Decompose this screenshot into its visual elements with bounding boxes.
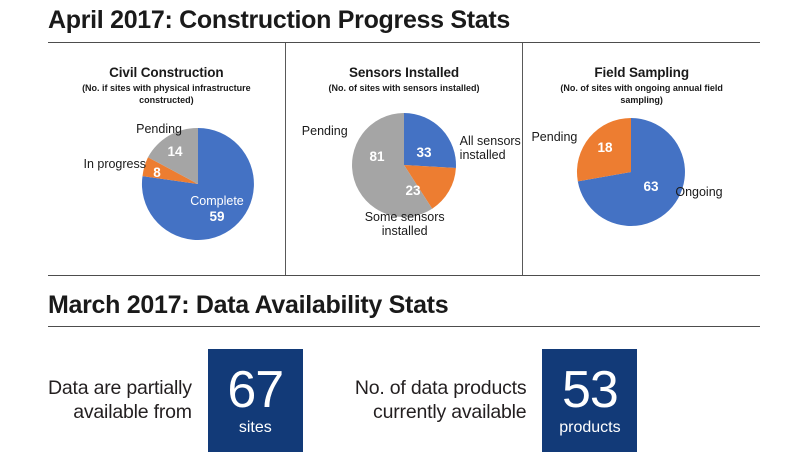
- stat-sites-number: 67: [227, 367, 283, 415]
- stat-products-box: 53 products: [542, 349, 637, 452]
- divider-under-panels: [48, 275, 760, 276]
- pie-callout-all-sensors-line1: All sensors: [460, 134, 521, 149]
- stat-sites-text: Data are partially available from: [48, 377, 192, 425]
- pie-callout-some-sensors: Some sensors installed: [343, 210, 467, 239]
- stat-sites: Data are partially available from 67 sit…: [48, 349, 303, 452]
- panel-head-field: Field Sampling (No. of sites with ongoin…: [523, 43, 760, 106]
- pie-callout-pending-sensors: Pending: [282, 124, 348, 139]
- pie-chart-field: 18 63: [523, 106, 761, 256]
- panel-subtitle-civil: (No. if sites with physical infrastructu…: [48, 83, 285, 106]
- pie-callout-some-sensors-line1: Some sensors: [343, 210, 467, 225]
- pie-panels-row: Civil Construction (No. if sites with ph…: [48, 43, 760, 275]
- stat-products-text-line2: currently available: [355, 401, 527, 425]
- pie-callout-pending-field: Pending: [515, 130, 577, 145]
- pie-callout-in-progress-civil: In progress: [50, 157, 146, 172]
- pie-value-all-sensors: 33: [416, 145, 432, 160]
- panel-title-field: Field Sampling: [523, 65, 760, 80]
- pie-callout-pending-civil: Pending: [94, 122, 182, 137]
- pie-stage-civil: 14 8 Complete 59 Pending In progress: [48, 106, 285, 256]
- pie-value-in-progress: 8: [153, 165, 161, 180]
- construction-progress-section: April 2017: Construction Progress Stats …: [48, 8, 760, 276]
- pie-value-pending-field: 18: [598, 140, 614, 155]
- pie-value-pending-sensors: 81: [369, 149, 385, 164]
- stat-sites-unit: sites: [239, 420, 272, 436]
- infographic-page: April 2017: Construction Progress Stats …: [0, 0, 800, 469]
- pie-stage-field: 18 63 Pending Ongoing: [523, 106, 760, 256]
- stat-products-number: 53: [562, 367, 618, 415]
- stat-products-text: No. of data products currently available: [355, 377, 527, 425]
- stat-products-unit: products: [559, 420, 620, 436]
- pie-callout-all-sensors-line2: installed: [460, 148, 521, 163]
- stat-sites-text-line1: Data are partially: [48, 377, 192, 401]
- pie-value-some-sensors: 23: [405, 183, 421, 198]
- panel-civil-construction: Civil Construction (No. if sites with ph…: [48, 43, 285, 275]
- panel-title-sensors: Sensors Installed: [286, 65, 523, 80]
- pie-callout-ongoing: Ongoing: [675, 185, 722, 200]
- pie-label-complete: Complete: [190, 194, 244, 208]
- stat-products: No. of data products currently available…: [355, 349, 638, 452]
- pie-callout-some-sensors-line2: installed: [343, 224, 467, 239]
- pie-value-pending: 14: [167, 144, 183, 159]
- stat-products-text-line1: No. of data products: [355, 377, 527, 401]
- pie-value-complete: 59: [209, 209, 224, 224]
- pie-value-ongoing: 63: [644, 179, 660, 194]
- section-title-construction: April 2017: Construction Progress Stats: [48, 8, 760, 33]
- panel-field-sampling: Field Sampling (No. of sites with ongoin…: [522, 43, 760, 275]
- stat-sites-text-line2: available from: [48, 401, 192, 425]
- data-availability-section: March 2017: Data Availability Stats Data…: [48, 284, 760, 452]
- panel-subtitle-field: (No. of sites with ongoing annual field …: [523, 83, 760, 106]
- pie-stage-sensors: 33 23 81 Pending All sensors installed S…: [286, 95, 523, 245]
- stat-sites-box: 67 sites: [208, 349, 303, 452]
- panel-head-civil: Civil Construction (No. if sites with ph…: [48, 43, 285, 106]
- section-title-data-availability: March 2017: Data Availability Stats: [48, 293, 760, 318]
- divider-under-data-availability-title: [48, 326, 760, 327]
- panel-sensors-installed: Sensors Installed (No. of sites with sen…: [285, 43, 523, 275]
- pie-callout-all-sensors: All sensors installed: [460, 134, 521, 163]
- panel-subtitle-sensors: (No. of sites with sensors installed): [286, 83, 523, 95]
- panel-title-civil: Civil Construction: [48, 65, 285, 80]
- stats-row: Data are partially available from 67 sit…: [48, 349, 760, 452]
- panel-head-sensors: Sensors Installed (No. of sites with sen…: [286, 43, 523, 95]
